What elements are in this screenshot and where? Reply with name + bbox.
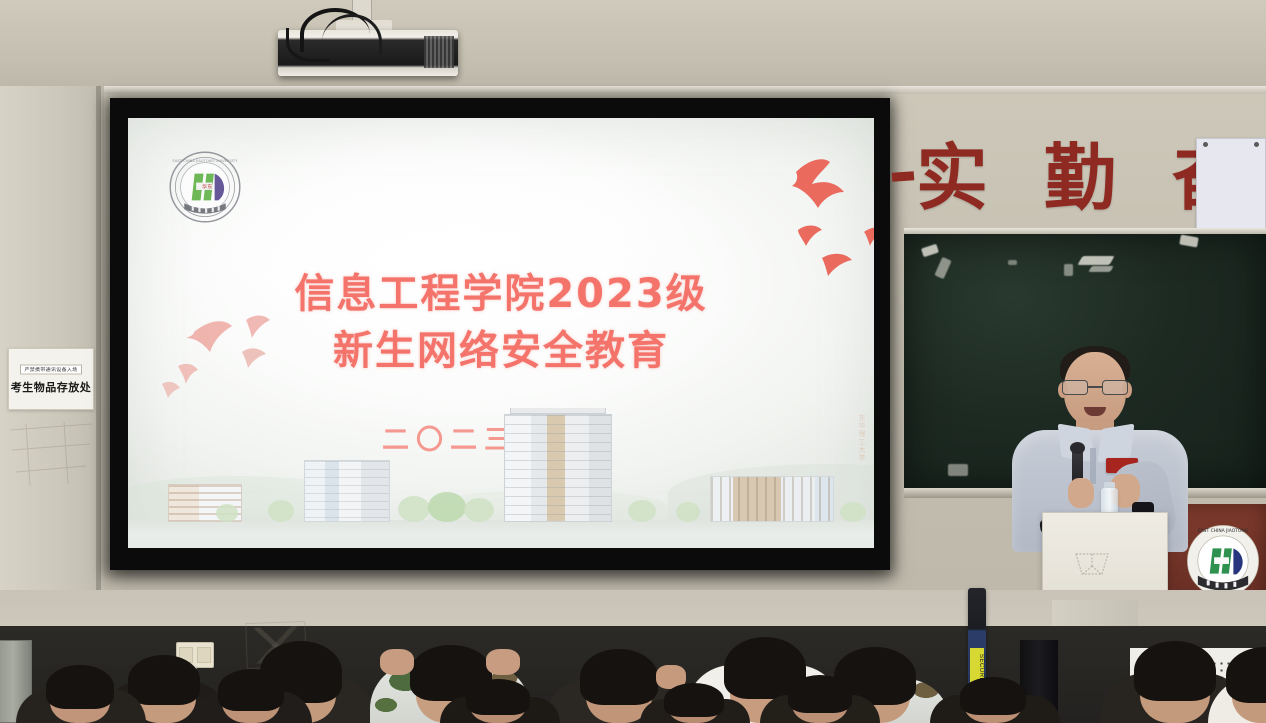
slide-title-line1: 信息工程学院2023级 (294, 271, 707, 317)
university-seal-logo: 华东 EAST CHINA JIAOTONG UNIVERSITY (168, 150, 242, 224)
pin (1203, 142, 1208, 147)
audience-member (930, 677, 1060, 723)
audience-hair (788, 675, 852, 713)
chalk-mark (1077, 256, 1114, 265)
audience-hand (380, 649, 414, 675)
classroom-scene: 严禁携带通讯设备入场 考生物品存放处 华东 (0, 0, 1266, 723)
tree (216, 504, 238, 522)
campus-building (304, 460, 390, 522)
audience-hair (1226, 647, 1266, 703)
campus-illustration: 东华理工大学 (128, 408, 874, 548)
chalk-mark (921, 244, 939, 258)
slide-title-line2: 新生网络安全教育 (128, 323, 874, 380)
upper-wall (0, 0, 1266, 100)
left-wall-edge (96, 86, 101, 626)
tree (676, 502, 700, 522)
plaza-area (128, 520, 874, 536)
tree (398, 496, 430, 522)
audience-hand (486, 649, 520, 675)
audience-hair (46, 665, 114, 709)
svg-text:EAST CHINA JIAOTONG UNIVERSITY: EAST CHINA JIAOTONG UNIVERSITY (173, 159, 239, 163)
projection-screen: 华东 EAST CHINA JIAOTONG UNIVERSITY (128, 118, 874, 548)
slide-title: 信息工程学院2023级 新生网络安全教育 (128, 266, 874, 380)
audience-hair (960, 677, 1026, 715)
microphone-head (1070, 442, 1085, 454)
sign-subtext: 严禁携带通讯设备入场 (20, 364, 81, 374)
chalk-mark (934, 257, 951, 279)
posted-notice-sheet (1196, 138, 1266, 242)
speaker-hand (1068, 478, 1094, 508)
tree (628, 500, 656, 522)
audience-member (440, 679, 560, 723)
ceiling-trim (0, 86, 1266, 94)
tree (268, 500, 294, 522)
audience-member (192, 669, 312, 723)
sign-main-text: 考生物品存放处 (11, 379, 92, 395)
laptop-brand-logo (1072, 546, 1112, 578)
motto-partial-stroke (892, 171, 915, 182)
chalk-mark (948, 464, 968, 476)
projection-screen-frame: 华东 EAST CHINA JIAOTONG UNIVERSITY (110, 98, 890, 570)
eyeglasses-icon (1062, 380, 1128, 395)
wall-scribble-marks (6, 420, 96, 490)
birds-decoration-right (778, 154, 874, 284)
chalk-mark (1179, 235, 1198, 248)
shirt-collar (1098, 423, 1135, 462)
chalk-mark (1088, 266, 1113, 272)
podium-university-emblem: EAST CHINA JIAOTONG (1186, 524, 1260, 598)
campus-building-tall (504, 414, 612, 522)
audience-hair (218, 669, 284, 711)
tree (840, 502, 866, 522)
svg-text:EAST CHINA JIAOTONG: EAST CHINA JIAOTONG (1198, 528, 1249, 534)
tree (428, 492, 466, 522)
tree (464, 498, 494, 522)
projector-vent (424, 36, 454, 68)
audience-hair (664, 683, 724, 717)
audience-member (640, 683, 750, 723)
audience-member (1208, 619, 1266, 723)
audience-member (16, 667, 146, 723)
illustration-seal-text: 东华理工大学 (850, 414, 866, 470)
motto-char-1: 实 (916, 119, 988, 224)
exam-storage-sign: 严禁携带通讯设备入场 考生物品存放处 (8, 348, 94, 410)
campus-building (710, 476, 834, 522)
motto-char-2: 勤 (1044, 119, 1116, 224)
audience-hair (466, 679, 530, 715)
audience-member (760, 675, 880, 723)
chalk-mark (1064, 264, 1073, 276)
audience-hair (1134, 641, 1216, 701)
chalk-mark (1008, 260, 1017, 265)
shirt-placket (1090, 448, 1096, 484)
pin (1254, 142, 1259, 147)
